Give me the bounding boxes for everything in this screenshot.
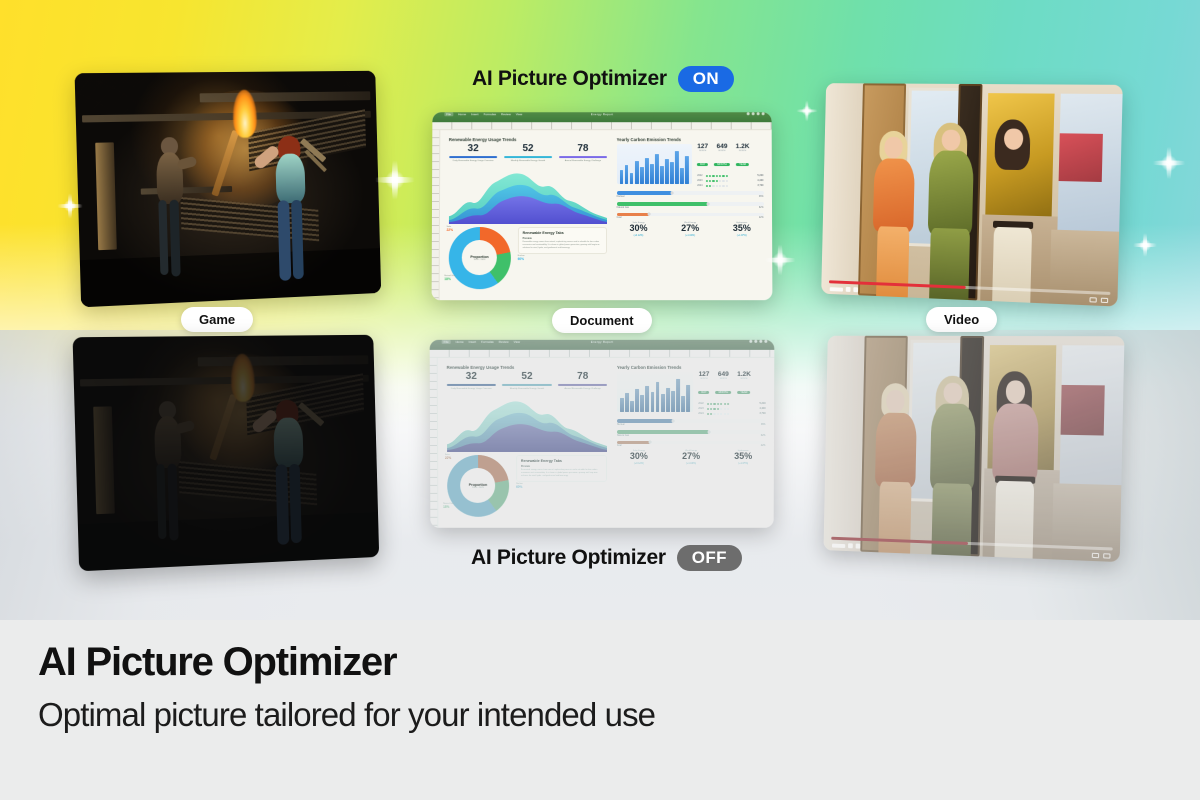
doc-progress-bar: Natural Gas62% — [617, 430, 766, 437]
doc-percentage-value: 35% — [720, 224, 764, 233]
doc-progress-label: Natural Gas — [617, 207, 629, 209]
doc-note-card: Renewable Energy Tabs Preview Renewable … — [518, 227, 608, 254]
doc-menu-item[interactable]: Formulas — [484, 112, 496, 116]
doc-year-label: 2024 — [697, 184, 702, 187]
doc-year-value: 3,700 — [759, 412, 765, 415]
doc-progress-pct: 22% — [761, 445, 766, 447]
banner-title: AI Picture Optimizer — [38, 640, 396, 685]
header-on-label: AI Picture Optimizer — [472, 67, 667, 91]
doc-note-heading: Preview — [521, 465, 602, 468]
video-subject — [986, 119, 1042, 303]
doc-kpi-value: 78 — [559, 144, 608, 154]
doc-percentage: Solar Energy 30% (+0.12%) — [617, 450, 661, 464]
donut-center-sub: 2024 - 2025 — [469, 487, 487, 489]
doc-menu-item[interactable]: File — [444, 112, 453, 116]
doc-right-section-title: Yearly Carbon Emission Trends — [617, 365, 766, 370]
doc-percentage-value: 27% — [668, 224, 712, 233]
video-controls-right[interactable] — [1092, 553, 1111, 559]
doc-kpi-row: 32 Daily Renewable Energy Usage Overview… — [447, 372, 608, 390]
banner-subtitle: Optimal picture tailored for your intend… — [38, 696, 655, 734]
doc-progress-label: Coal — [617, 217, 622, 219]
doc-percentage-value: 35% — [721, 452, 765, 461]
doc-menu-item[interactable]: Insert — [469, 340, 477, 344]
doc-kpi-caption: Daily Renewable Energy Usage Overview — [449, 160, 498, 163]
doc-menu-item[interactable]: Review — [501, 112, 511, 116]
doc-percentage: Wind Energy 27% (+1.04%) — [669, 450, 713, 464]
doc-kpi: 52 Monthly Renewable Energy Growth — [504, 144, 553, 162]
doc-ruler — [432, 123, 771, 130]
doc-progress-bar: Coal22% — [617, 441, 766, 448]
doc-left-section-title: Renewable Energy Usage Trends — [447, 365, 608, 370]
doc-stat-row: 127 MONTH DAY 649 MONTH MONTH — [698, 372, 765, 399]
game-artwork-off — [73, 335, 380, 572]
donut-segment-value: 60% — [518, 257, 524, 261]
document-dashboard-off: File Home Insert Formulas Review View En… — [430, 340, 775, 528]
doc-year-value: 3,700 — [757, 184, 763, 187]
doc-window-controls[interactable] — [749, 340, 767, 343]
doc-kpi-caption: Annual Renewable Energy Challenge — [559, 160, 608, 163]
doc-percentage-delta: (+1.04%) — [668, 234, 712, 237]
doc-stat-pill: DAY — [697, 163, 708, 166]
chip-document: Document — [552, 308, 652, 333]
doc-menu-item[interactable]: View — [516, 112, 522, 116]
donut-segment-tag: Natural Gas 18% — [444, 275, 455, 281]
doc-year-label: 2023 — [697, 179, 702, 182]
donut-segment-value: 60% — [516, 485, 522, 489]
doc-menu-item[interactable]: Formulas — [481, 340, 494, 344]
doc-year-label: 2023 — [698, 407, 703, 410]
doc-percentage-row: Solar Energy 30% (+0.12%) Wind Energy 27… — [617, 450, 766, 464]
doc-progress-bar: Nuclear38% — [617, 191, 764, 198]
doc-stat: 127 MONTH DAY — [697, 144, 708, 170]
subtitles-icon[interactable] — [1092, 553, 1099, 558]
video-subject — [989, 371, 1044, 558]
doc-menu-item[interactable]: Home — [458, 112, 466, 116]
chip-video: Video — [926, 307, 997, 332]
chip-game: Game — [181, 307, 253, 332]
doc-progress-pct: 62% — [759, 207, 764, 209]
document-dashboard-on: File Home Insert Formulas Review View En… — [432, 112, 773, 300]
donut-segment-value: 18% — [443, 505, 449, 509]
doc-stat-unit: MONTH — [698, 378, 709, 380]
fullscreen-icon[interactable] — [1101, 298, 1108, 303]
game-artwork-on — [75, 71, 382, 308]
video-artwork-off — [823, 336, 1124, 562]
video-subject — [924, 122, 978, 300]
doc-stat: 649 MONTH MONTH — [714, 144, 730, 170]
doc-kpi-value: 52 — [502, 372, 551, 382]
doc-year-row: 2022 5,200 — [698, 402, 765, 405]
doc-kpi-value: 32 — [449, 144, 498, 154]
donut-segment-tag: Solar 22% — [445, 454, 451, 460]
game-panel-off[interactable] — [73, 335, 380, 572]
doc-year-row: 2022 5,200 — [697, 174, 763, 177]
header-ai-picture-optimizer-on: AI Picture Optimizer ON — [472, 66, 734, 92]
doc-area-chart-off — [447, 394, 608, 452]
doc-progress-label: Natural Gas — [617, 435, 629, 437]
status-badge-on: ON — [678, 66, 734, 92]
video-panel-on[interactable] — [821, 83, 1123, 306]
doc-percentage-delta: (+1.07%) — [721, 462, 765, 465]
doc-stat-pill: DAY — [698, 391, 709, 394]
doc-year-row: 2024 3,700 — [697, 184, 763, 187]
doc-kpi: 78 Annual Renewable Energy Challenge — [558, 372, 607, 390]
doc-year-value: 4,400 — [760, 407, 766, 410]
doc-note-body: Renewable energy comes from natural, rep… — [523, 241, 603, 250]
fullscreen-icon[interactable] — [1103, 553, 1110, 558]
doc-year-row: 2023 4,400 — [698, 407, 765, 410]
doc-progress-label: Nuclear — [617, 424, 625, 426]
play-icon[interactable] — [830, 287, 843, 291]
doc-percentage-value: 30% — [617, 452, 661, 461]
doc-percentage: Hydropower 35% (+1.07%) — [721, 450, 765, 464]
doc-percentage-delta: (+0.12%) — [617, 234, 661, 237]
doc-kpi-caption: Monthly Renewable Energy Growth — [502, 388, 551, 391]
doc-year-value: 4,400 — [757, 179, 763, 182]
header-off-label: AI Picture Optimizer — [471, 546, 666, 570]
video-controls-right[interactable] — [1089, 297, 1108, 303]
doc-stat-unit: MONTH — [736, 150, 750, 152]
next-icon[interactable] — [846, 287, 851, 292]
doc-year-row: 2024 3,700 — [698, 412, 765, 415]
doc-percentage-value: 30% — [617, 224, 661, 233]
doc-progress-label: Coal — [617, 445, 622, 447]
doc-stat-unit: MONTH — [697, 150, 708, 152]
doc-kpi: 32 Daily Renewable Energy Usage Overview — [447, 372, 496, 390]
doc-stat: 1.2K MONTH YEAR — [737, 372, 751, 399]
doc-menu[interactable]: File Home Insert Formulas Review View — [444, 112, 522, 116]
donut-segment-tag: Nuclear 60% — [518, 255, 525, 261]
doc-percentage-delta: (+0.12%) — [617, 462, 661, 465]
volume-icon[interactable] — [853, 287, 858, 292]
doc-note-body: Renewable energy comes from natural, rep… — [521, 469, 602, 478]
donut-segment-tag: Natural Gas 18% — [443, 503, 454, 509]
next-icon[interactable] — [848, 543, 853, 548]
doc-kpi-caption: Monthly Renewable Energy Growth — [504, 160, 553, 163]
document-panel-on[interactable]: File Home Insert Formulas Review View En… — [432, 112, 773, 300]
doc-menu-item[interactable]: Insert — [471, 112, 479, 116]
doc-stat-pill: MONTH — [714, 163, 730, 166]
hero-stage: AI Picture Optimizer ON — [0, 0, 1200, 620]
doc-ruler — [430, 350, 775, 358]
doc-kpi: 52 Monthly Renewable Energy Growth — [502, 372, 551, 390]
doc-kpi: 32 Daily Renewable Energy Usage Overview — [449, 144, 498, 162]
doc-left-section-title: Renewable Energy Usage Trends — [449, 137, 607, 142]
video-subject — [869, 130, 919, 298]
doc-bar-chart-off — [617, 372, 694, 412]
doc-note-title: Renewable Energy Tabs — [521, 459, 602, 463]
doc-app-header-off: File Home Insert Formulas Review View En… — [430, 340, 775, 350]
doc-progress-pct: 62% — [761, 435, 766, 437]
video-panel-off[interactable] — [823, 336, 1124, 562]
doc-year-label: 2022 — [698, 402, 703, 405]
doc-progress-pct: 38% — [759, 196, 764, 198]
doc-right-section-title: Yearly Carbon Emission Trends — [617, 137, 764, 142]
doc-stat: 127 MONTH DAY — [698, 372, 709, 399]
doc-percentage-value: 27% — [669, 452, 713, 461]
doc-stat-unit: MONTH — [716, 378, 732, 380]
doc-year-row: 2023 4,400 — [697, 179, 763, 182]
doc-note-title: Renewable Energy Tabs — [523, 231, 603, 235]
subtitles-icon[interactable] — [1089, 297, 1096, 302]
doc-stat: 1.2K MONTH YEAR — [736, 144, 750, 170]
doc-menu-item[interactable]: View — [514, 340, 520, 344]
donut-center-sub: 2024 - 2025 — [470, 259, 488, 261]
donut-segment-tag: Nuclear 60% — [516, 483, 523, 489]
doc-kpi-row: 32 Daily Renewable Energy Usage Overview… — [449, 144, 607, 162]
doc-year-value: 5,200 — [760, 402, 766, 405]
document-panel-off[interactable]: File Home Insert Formulas Review View En… — [430, 340, 775, 528]
doc-stat-unit: MONTH — [737, 378, 751, 380]
doc-kpi-caption: Daily Renewable Energy Usage Overview — [447, 388, 496, 391]
doc-app-title: Energy Report — [591, 112, 614, 116]
donut-segment-value: 22% — [445, 456, 451, 460]
doc-kpi-value: 52 — [504, 144, 553, 154]
status-badge-off: OFF — [677, 545, 742, 571]
doc-percentage-delta: (+1.07%) — [720, 234, 764, 237]
doc-progress-label: Nuclear — [617, 196, 625, 198]
donut-segment-value: 18% — [444, 277, 450, 281]
doc-kpi-value: 32 — [447, 372, 496, 382]
doc-year-label: 2022 — [697, 174, 702, 177]
doc-note-heading: Preview — [523, 237, 603, 240]
video-subject — [872, 383, 922, 553]
play-icon[interactable] — [832, 543, 845, 547]
doc-stat-pill: MONTH — [716, 391, 732, 394]
doc-menu-item[interactable]: Home — [456, 340, 464, 344]
doc-donut-chart: Proportion 2024 - 2025 — [448, 227, 510, 289]
doc-percentage: Solar Energy 30% (+0.12%) — [617, 222, 661, 236]
doc-menu-item[interactable]: File — [442, 340, 451, 344]
doc-progress-pct: 22% — [759, 217, 764, 219]
doc-app-header: File Home Insert Formulas Review View En… — [432, 112, 771, 122]
doc-donut-chart-off: Proportion 2024 - 2025 — [447, 455, 509, 517]
doc-percentage: Wind Energy 27% (+1.04%) — [668, 222, 712, 236]
doc-menu-off[interactable]: File Home Insert Formulas Review View — [442, 340, 520, 344]
doc-menu-item[interactable]: Review — [499, 340, 509, 344]
doc-year-value: 5,200 — [757, 174, 763, 177]
doc-progress-bar: Coal22% — [617, 213, 764, 220]
volume-icon[interactable] — [856, 544, 861, 549]
doc-progress-pct: 38% — [761, 424, 766, 426]
bottom-banner: AI Picture Optimizer Optimal picture tai… — [0, 620, 1200, 800]
header-ai-picture-optimizer-off: AI Picture Optimizer OFF — [471, 545, 742, 571]
doc-percentage-delta: (+1.04%) — [669, 462, 713, 465]
donut-segment-tag: Solar 22% — [447, 226, 453, 232]
doc-progress-bar: Natural Gas62% — [617, 202, 764, 209]
video-artwork-on — [821, 83, 1123, 306]
doc-stat-pill: YEAR — [737, 391, 750, 394]
doc-window-controls[interactable] — [747, 112, 765, 115]
donut-segment-value: 22% — [447, 228, 453, 232]
video-subject — [927, 375, 981, 556]
doc-kpi-caption: Annual Renewable Energy Challenge — [558, 388, 607, 391]
doc-year-label: 2024 — [698, 412, 703, 415]
doc-app-title: Energy Report — [591, 340, 614, 344]
doc-percentage: Hydropower 35% (+1.07%) — [720, 222, 764, 236]
doc-stat-pill: YEAR — [736, 163, 749, 166]
doc-kpi-value: 78 — [558, 372, 607, 382]
doc-stat-unit: MONTH — [714, 150, 730, 152]
doc-area-chart — [449, 166, 608, 224]
doc-note-card-off: Renewable Energy Tabs Preview Renewable … — [516, 455, 607, 482]
doc-kpi: 78 Annual Renewable Energy Challenge — [559, 144, 608, 162]
doc-percentage-row: Solar Energy 30% (+0.12%) Wind Energy 27… — [617, 222, 764, 236]
doc-stat: 649 MONTH MONTH — [716, 372, 732, 399]
doc-stat-row: 127 MONTH DAY 649 MONTH MONTH — [697, 144, 763, 170]
doc-bar-chart — [617, 144, 693, 184]
doc-progress-bar: Nuclear38% — [617, 419, 766, 426]
game-panel-on[interactable] — [75, 71, 382, 308]
